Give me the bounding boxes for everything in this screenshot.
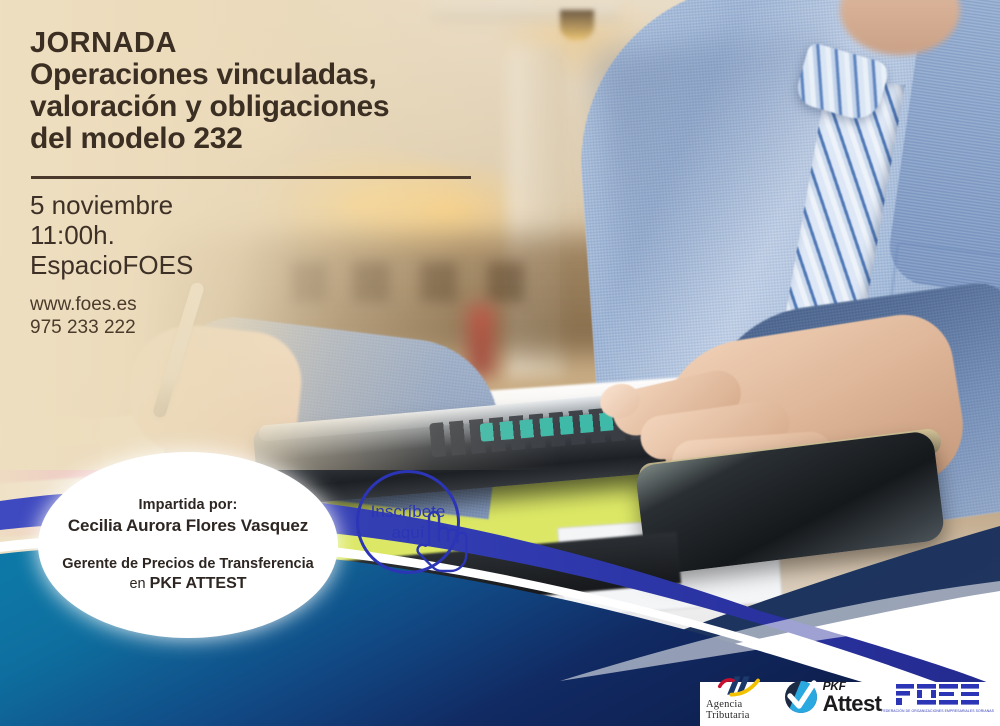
headline-line-1: JORNADA [30,27,500,59]
contact-block: www.foes.es 975 233 222 [30,293,137,339]
phone-number: 975 233 222 [30,316,137,339]
foes-mark-icon [895,682,981,708]
event-time: 11:00h. [30,220,360,250]
speaker-company-prefix: en [129,576,149,592]
speaker-company-line: en PKF ATTEST [129,575,246,593]
event-details: 5 noviembre 11:00h. EspacioFOES [30,190,360,280]
speaker-intro-label: Impartida por: [139,497,238,513]
poster-headline: JORNADA Operaciones vinculadas, valoraci… [30,27,500,155]
register-label-line-1: Inscríbete [371,501,446,522]
headline-line-3: valoración y obligaciones [30,91,500,123]
register-button[interactable]: Inscríbete aquí [356,470,460,574]
speaker-company: PKF ATTEST [150,575,247,592]
event-venue: EspacioFOES [30,250,360,280]
logo-agencia-tributaria: Agencia Tributaria [706,673,781,721]
headline-line-4: del modelo 232 [30,123,500,155]
speaker-role: Gerente de Precios de Transferencia [62,556,313,572]
sponsor-logos: Agencia Tributaria PKF Attest [700,668,1000,726]
foes-tagline: FEDERACIÓN DE ORGANIZACIONES EMPRESARIAL… [881,709,994,713]
register-label-line-2: aquí [391,522,424,543]
headline-divider [31,176,471,179]
logo-foes: FEDERACIÓN DE ORGANIZACIONES EMPRESARIAL… [881,673,994,721]
event-date: 5 noviembre [30,190,360,220]
pkf-attest-mark-icon [781,677,821,717]
agencia-tributaria-label: Agencia Tributaria [706,699,781,721]
headline-line-2: Operaciones vinculadas, [30,59,500,91]
attest-label: Attest [823,693,882,715]
event-poster: JORNADA Operaciones vinculadas, valoraci… [0,0,1000,726]
ceiling-lamp-icon [560,10,594,40]
speaker-info: Impartida por: Cecilia Aurora Flores Vas… [38,452,338,638]
website-url[interactable]: www.foes.es [30,293,137,316]
logo-pkf-attest: PKF Attest [781,673,882,721]
speaker-name: Cecilia Aurora Flores Vasquez [68,516,308,536]
agencia-tributaria-mark-icon [711,673,775,698]
